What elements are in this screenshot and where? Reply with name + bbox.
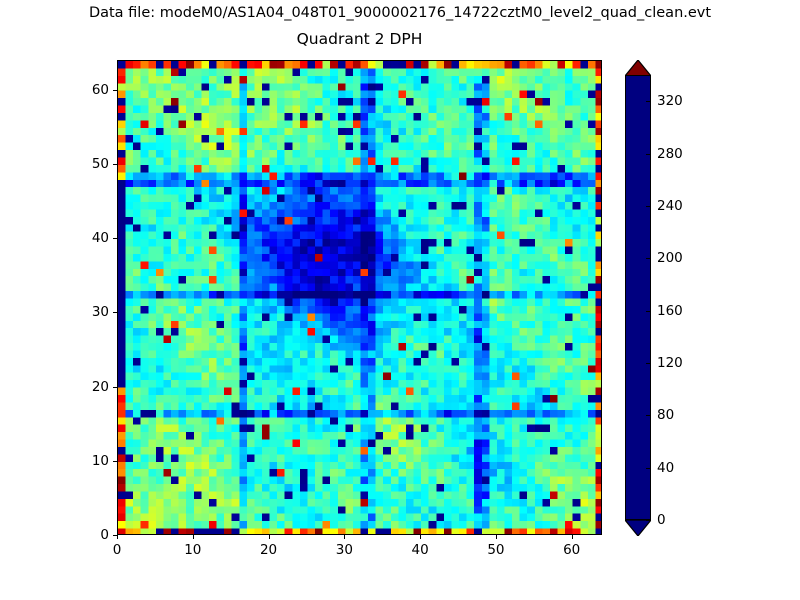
colorbar-tick-mark <box>646 311 651 312</box>
x-tick-label: 50 <box>487 542 504 558</box>
colorbar-tick-mark <box>646 468 651 469</box>
heatmap-image[interactable] <box>118 61 602 535</box>
colorbar-extend-min-arrow <box>625 520 651 536</box>
y-tick-label: 40 <box>65 230 109 246</box>
colorbar-gradient <box>626 76 650 519</box>
colorbar-tick-label: 320 <box>657 93 683 109</box>
y-tick-label: 0 <box>65 527 109 543</box>
x-tick-label: 0 <box>113 542 122 558</box>
page-title: Quadrant 2 DPH <box>117 30 602 48</box>
y-tick-label: 60 <box>65 82 109 98</box>
y-tick-mark <box>113 461 117 462</box>
x-tick-label: 20 <box>260 542 277 558</box>
y-tick-label: 50 <box>65 156 109 172</box>
y-tick-label: 10 <box>65 453 109 469</box>
y-tick-mark <box>113 312 117 313</box>
y-tick-mark <box>113 387 117 388</box>
figure-canvas: Data file: modeM0/AS1A04_048T01_90000021… <box>0 0 800 600</box>
x-tick-mark <box>193 535 194 539</box>
y-tick-mark <box>113 535 117 536</box>
colorbar-tick-label: 0 <box>657 512 666 528</box>
x-tick-mark <box>572 535 573 539</box>
colorbar-tick-label: 200 <box>657 250 683 266</box>
x-tick-label: 40 <box>412 542 429 558</box>
x-tick-mark <box>117 535 118 539</box>
colorbar-tick-label: 120 <box>657 355 683 371</box>
x-tick-mark <box>344 535 345 539</box>
x-tick-mark <box>420 535 421 539</box>
y-tick-mark <box>113 238 117 239</box>
colorbar-tick-label: 160 <box>657 303 683 319</box>
y-tick-mark <box>113 90 117 91</box>
colorbar-tick-mark <box>646 206 651 207</box>
heatmap-axes[interactable] <box>117 60 602 535</box>
x-tick-label: 30 <box>336 542 353 558</box>
x-tick-label: 60 <box>563 542 580 558</box>
data-file-label: Data file: modeM0/AS1A04_048T01_90000021… <box>0 5 800 21</box>
colorbar-tick-mark <box>646 520 651 521</box>
colorbar-tick-mark <box>646 258 651 259</box>
y-tick-mark <box>113 164 117 165</box>
colorbar-tick-label: 80 <box>657 407 674 423</box>
x-tick-mark <box>269 535 270 539</box>
y-tick-label: 30 <box>65 304 109 320</box>
colorbar[interactable] <box>625 60 651 535</box>
colorbar-tick-label: 280 <box>657 146 683 162</box>
colorbar-tick-mark <box>646 154 651 155</box>
colorbar-tick-mark <box>646 101 651 102</box>
colorbar-gradient-track[interactable] <box>625 75 651 520</box>
y-tick-label: 20 <box>65 379 109 395</box>
x-tick-mark <box>496 535 497 539</box>
colorbar-tick-label: 240 <box>657 198 683 214</box>
colorbar-tick-mark <box>646 415 651 416</box>
colorbar-extend-max-arrow <box>625 60 651 76</box>
colorbar-tick-label: 40 <box>657 460 674 476</box>
colorbar-tick-mark <box>646 363 651 364</box>
x-tick-label: 10 <box>184 542 201 558</box>
